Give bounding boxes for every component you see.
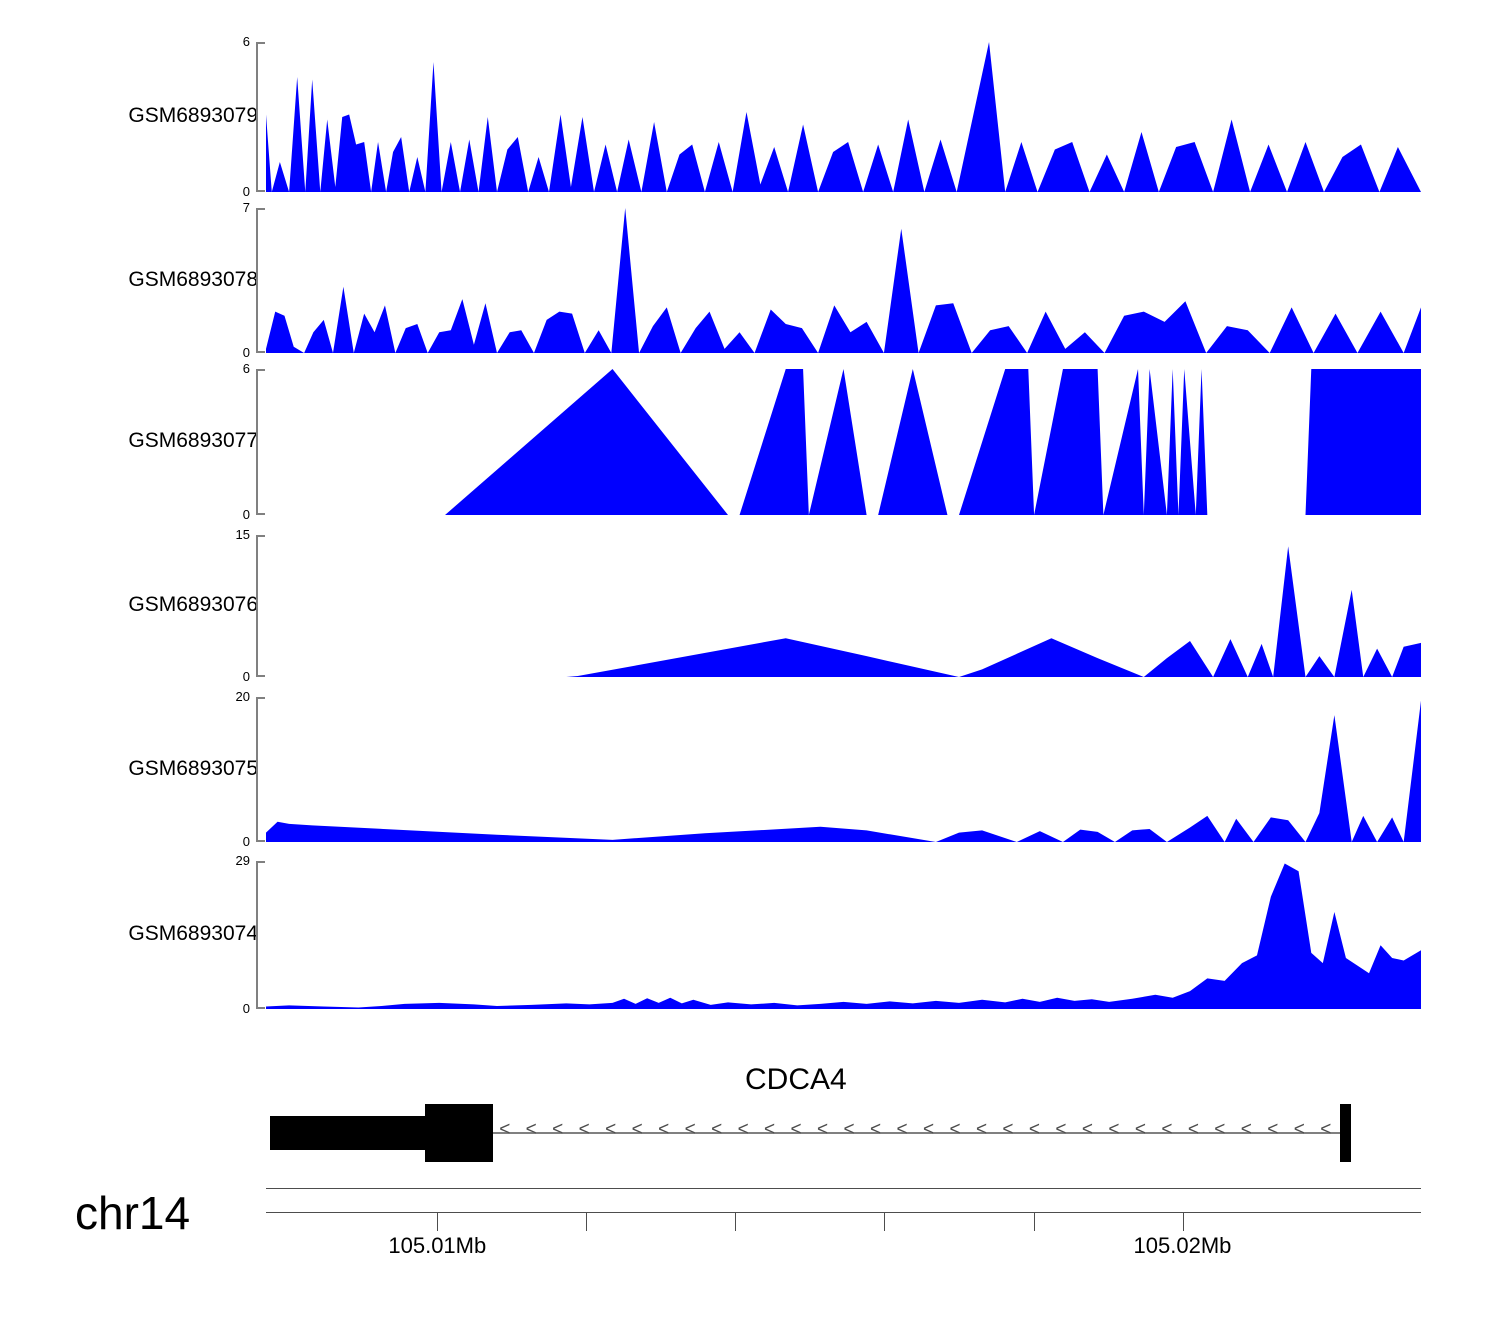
strand-arrow-icon: < [605, 1120, 616, 1139]
y-axis-min-label: 0 [210, 1002, 250, 1015]
strand-arrow-icon: < [896, 1120, 907, 1139]
axis-top-rule [266, 1188, 1421, 1189]
strand-arrow-icon: < [711, 1120, 722, 1139]
strand-arrow-icon: < [1002, 1120, 1013, 1139]
y-axis-max-label: 29 [210, 854, 250, 867]
track-label-GSM6893076: GSM6893076 [128, 594, 258, 615]
track-label-GSM6893075: GSM6893075 [128, 758, 258, 779]
y-axis-max-label: 20 [210, 690, 250, 703]
y-axis-min-label: 0 [210, 835, 250, 848]
axis-tick-label: 105.01Mb [388, 1235, 486, 1257]
exon-block[interactable] [270, 1116, 425, 1150]
axis-tick-label: 105.02Mb [1134, 1235, 1232, 1257]
coverage-area-GSM6893076[interactable] [266, 535, 1421, 677]
y-axis-min-label: 0 [210, 346, 250, 359]
exon-block[interactable] [1340, 1104, 1351, 1162]
axis-tick [1183, 1213, 1184, 1231]
y-axis-min-label: 0 [210, 508, 250, 521]
y-axis-min-label: 0 [210, 670, 250, 683]
gene-name-label: CDCA4 [745, 1065, 847, 1095]
coverage-area-GSM6893078[interactable] [266, 208, 1421, 353]
chromosome-label: chr14 [75, 1190, 190, 1236]
strand-arrow-icon: < [1320, 1120, 1331, 1139]
strand-arrow-icon: < [685, 1120, 696, 1139]
genome-axis: chr14 105.01Mb105.02Mb [0, 1180, 1500, 1300]
y-axis-bracket [256, 42, 265, 192]
axis-tick [437, 1213, 438, 1231]
coverage-area-GSM6893075[interactable] [266, 697, 1421, 842]
coverage-area-GSM6893074[interactable] [266, 861, 1421, 1009]
track-label-GSM6893074: GSM6893074 [128, 923, 258, 944]
strand-arrow-icon: < [1161, 1120, 1172, 1139]
strand-arrow-icon: < [1108, 1120, 1119, 1139]
y-axis-bracket [256, 369, 265, 515]
strand-arrow-icon: < [949, 1120, 960, 1139]
strand-arrow-icon: < [1214, 1120, 1225, 1139]
strand-arrow-icon: < [1135, 1120, 1146, 1139]
y-axis-bracket [256, 208, 265, 353]
strand-arrow-icon: < [923, 1120, 934, 1139]
genome-browser-view: GSM689307960GSM689307870GSM689307760GSM6… [0, 0, 1500, 1320]
strand-arrow-icon: < [632, 1120, 643, 1139]
axis-tick [735, 1213, 736, 1231]
strand-arrow-icon: < [976, 1120, 987, 1139]
strand-arrow-icon: < [817, 1120, 828, 1139]
strand-arrow-icon: < [1241, 1120, 1252, 1139]
y-axis-bracket [256, 535, 265, 677]
strand-arrow-icon: < [844, 1120, 855, 1139]
strand-arrow-icon: < [738, 1120, 749, 1139]
axis-tick [1034, 1213, 1035, 1231]
strand-arrow-icon: < [791, 1120, 802, 1139]
strand-arrow-icon: < [764, 1120, 775, 1139]
exon-block[interactable] [425, 1104, 493, 1162]
axis-main-rule [266, 1212, 1421, 1213]
strand-arrow-icon: < [1029, 1120, 1040, 1139]
strand-arrow-icon: < [870, 1120, 881, 1139]
coverage-area-GSM6893079[interactable] [266, 42, 1421, 192]
y-axis-bracket [256, 861, 265, 1009]
axis-tick [586, 1213, 587, 1231]
strand-arrow-icon: < [658, 1120, 669, 1139]
strand-arrow-icon: < [1294, 1120, 1305, 1139]
gene-annotation-track: CDCA4 <<<<<<<<<<<<<<<<<<<<<<<<<<<<<<<< [0, 1050, 1500, 1190]
track-label-GSM6893077: GSM6893077 [128, 430, 258, 451]
strand-arrow-icon: < [1188, 1120, 1199, 1139]
axis-tick [884, 1213, 885, 1231]
y-axis-max-label: 6 [210, 362, 250, 375]
y-axis-max-label: 7 [210, 201, 250, 214]
y-axis-min-label: 0 [210, 185, 250, 198]
strand-arrow-icon: < [499, 1120, 510, 1139]
y-axis-bracket [256, 697, 265, 842]
track-label-GSM6893078: GSM6893078 [128, 269, 258, 290]
strand-arrow-icon: < [579, 1120, 590, 1139]
y-axis-max-label: 6 [210, 35, 250, 48]
y-axis-max-label: 15 [210, 528, 250, 541]
strand-arrow-icon: < [1267, 1120, 1278, 1139]
strand-arrow-icon: < [1055, 1120, 1066, 1139]
track-label-GSM6893079: GSM6893079 [128, 105, 258, 126]
strand-arrow-icon: < [552, 1120, 563, 1139]
strand-arrow-icon: < [526, 1120, 537, 1139]
strand-arrow-icon: < [1082, 1120, 1093, 1139]
coverage-area-GSM6893077[interactable] [266, 369, 1421, 515]
